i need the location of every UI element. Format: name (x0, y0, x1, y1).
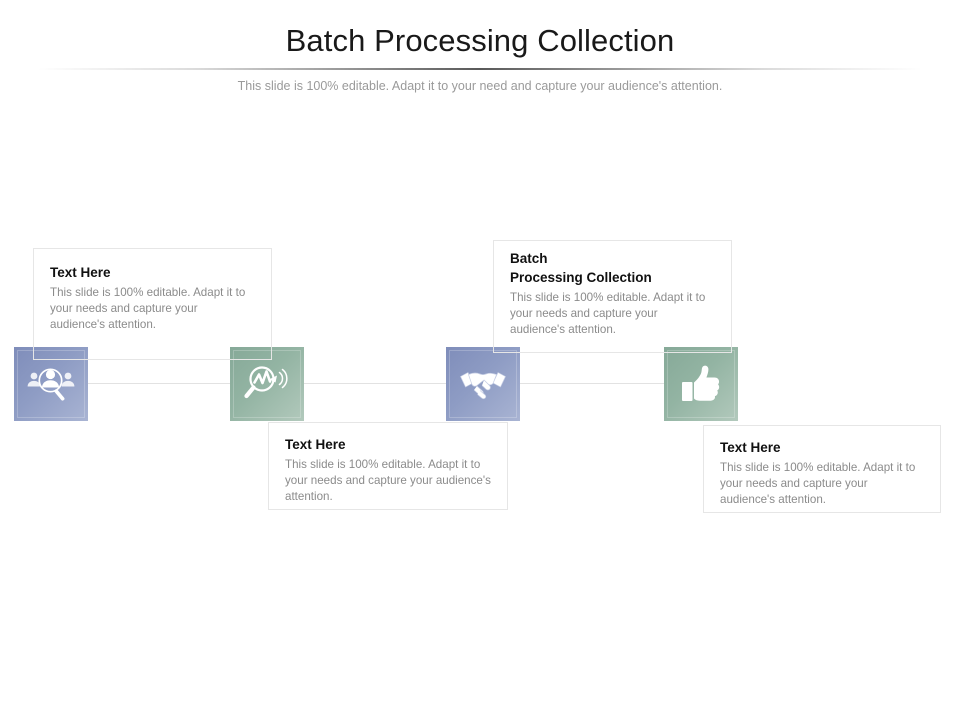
info-card-1[interactable]: Text Here This slide is 100% editable. A… (33, 248, 272, 360)
card-heading: Text Here (720, 438, 924, 457)
icon-tile-thumbs-up[interactable] (664, 347, 738, 421)
card-body: This slide is 100% editable. Adapt it to… (720, 460, 924, 508)
page-title: Batch Processing Collection (0, 23, 960, 59)
icon-tile-handshake[interactable] (446, 347, 520, 421)
info-card-2[interactable]: Text Here This slide is 100% editable. A… (268, 422, 508, 510)
card-body: This slide is 100% editable. Adapt it to… (510, 290, 715, 338)
analytics-magnifier-icon (243, 362, 291, 406)
page-subtitle: This slide is 100% editable. Adapt it to… (0, 79, 960, 93)
handshake-icon (458, 366, 508, 402)
timeline-connector-line (50, 383, 710, 384)
card-body: This slide is 100% editable. Adapt it to… (50, 285, 255, 333)
card-heading: Batch Processing Collection (510, 249, 715, 287)
info-card-3[interactable]: Batch Processing Collection This slide i… (493, 240, 732, 353)
people-search-icon (26, 363, 76, 405)
info-card-4[interactable]: Text Here This slide is 100% editable. A… (703, 425, 941, 513)
slide-canvas: Batch Processing Collection This slide i… (0, 0, 960, 720)
title-divider (38, 68, 922, 70)
thumbs-up-icon (680, 362, 722, 406)
card-heading: Text Here (50, 263, 255, 282)
card-body: This slide is 100% editable. Adapt it to… (285, 457, 491, 505)
card-heading: Text Here (285, 435, 491, 454)
